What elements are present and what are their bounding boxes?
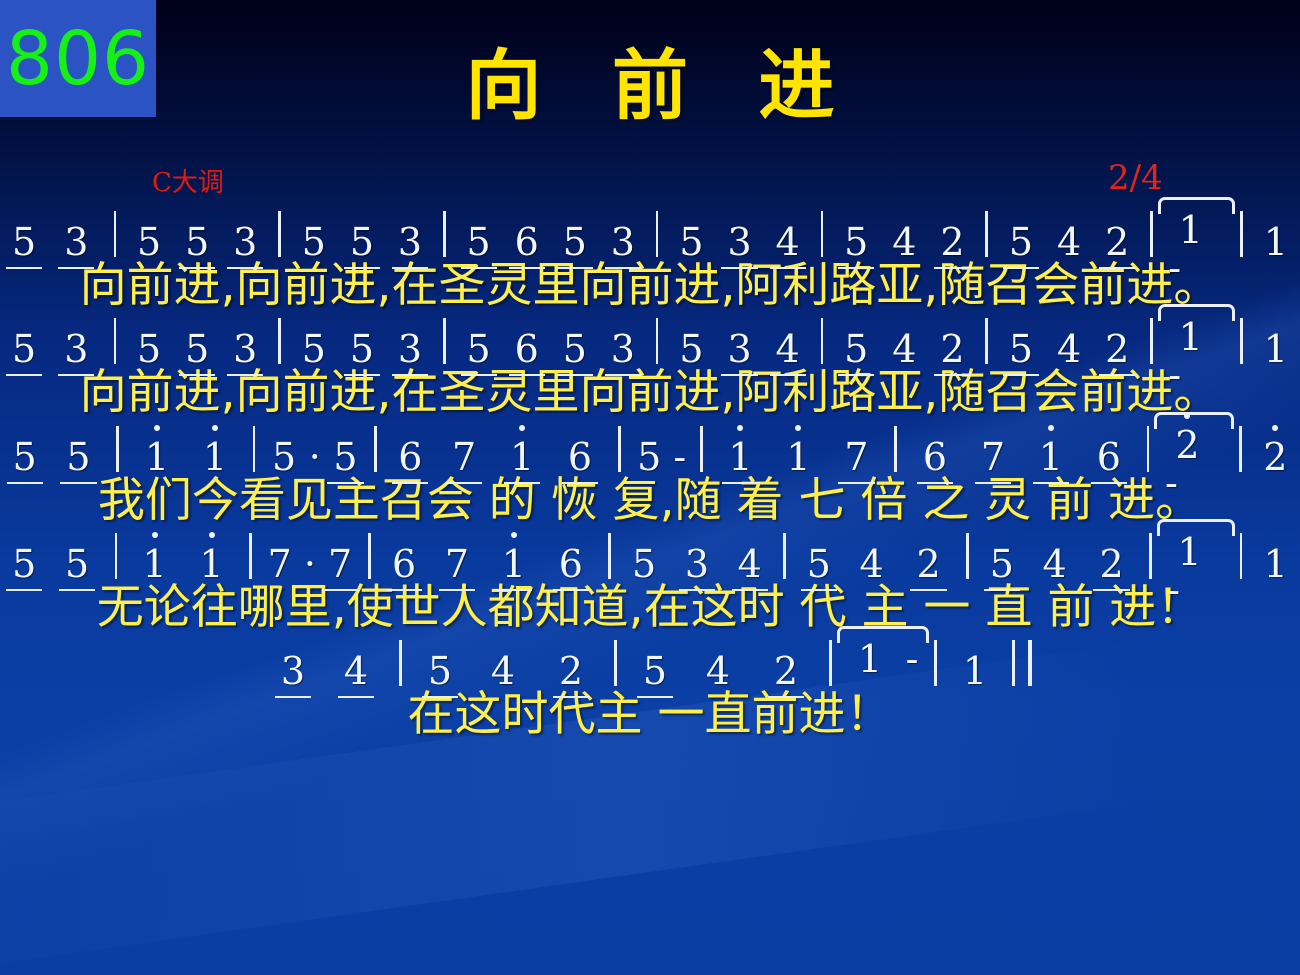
notation-row: 5355355356535345425421-1 [0, 312, 1300, 368]
note: 1 [1162, 211, 1220, 249]
note: 5 [551, 330, 599, 368]
music-system: 345425421-1在这时代主 一直前进！ [0, 634, 1300, 739]
note-glyph: 5 [10, 330, 38, 368]
note: 7 [428, 545, 485, 583]
bar-line [985, 211, 987, 257]
bar-line [783, 533, 786, 579]
bar-line [399, 640, 402, 686]
note-glyph: 1 [1262, 223, 1290, 261]
note: 6 [386, 438, 435, 476]
note: 5 [832, 330, 880, 368]
note-glyph: 1 [143, 438, 171, 476]
bar-line [1240, 211, 1242, 257]
note-glyph: 1 [1177, 318, 1205, 356]
bar-line [278, 318, 280, 364]
note: 1 [485, 545, 542, 583]
note: 5 [173, 223, 221, 261]
note-glyph: 4 [704, 652, 732, 690]
note-glyph: 3 [725, 223, 753, 261]
note: 1 [126, 545, 183, 583]
note: 3 [668, 545, 725, 583]
note: 5 [326, 438, 365, 476]
ending-bracket: 1- [1161, 533, 1231, 579]
note: - [1162, 356, 1188, 394]
note-glyph: 1 [197, 545, 225, 583]
note: 1 [1252, 223, 1300, 261]
note: 2 [928, 330, 976, 368]
note-glyph: 1 [1262, 545, 1290, 583]
note: 5 [173, 330, 221, 368]
ending-bracket: 1- [1162, 211, 1232, 257]
note-glyph: 6 [390, 545, 418, 583]
bar-line [278, 211, 280, 257]
notation-row: 5355355356535345425421-1 [0, 205, 1300, 261]
note-glyph: 4 [1055, 330, 1083, 368]
note-glyph: 3 [725, 330, 753, 368]
note-glyph: 1 [961, 652, 989, 690]
note-glyph: 1 [1262, 330, 1290, 368]
key-signature: C大调 [152, 162, 224, 199]
bar-line [114, 211, 116, 257]
note-glyph: - [1166, 356, 1183, 394]
note: 4 [725, 545, 774, 583]
note: 4 [764, 223, 812, 261]
note-glyph: 2 [914, 545, 942, 583]
note: · [299, 545, 321, 583]
bar-line [1150, 318, 1152, 364]
ending-bracket: 1- [841, 640, 925, 686]
note: 3 [48, 223, 104, 261]
music-system: 55115·567165-11767162-2我们今看见主召会 的 恢 复,随 … [0, 420, 1300, 525]
note-glyph: 6 [566, 438, 594, 476]
time-signature: 2/4 [1108, 158, 1163, 198]
note-glyph: 5 [135, 330, 163, 368]
note-glyph: 1 [1177, 211, 1205, 249]
ending-bracket: 2- [1158, 426, 1230, 472]
note-glyph: 7 [842, 438, 870, 476]
note-glyph: 4 [774, 223, 802, 261]
note: 2 [752, 652, 820, 690]
bar-line [614, 640, 617, 686]
note: - [1158, 464, 1184, 502]
note: 4 [1026, 545, 1083, 583]
note: - [899, 640, 925, 678]
note-glyph: 5 [270, 438, 298, 476]
note: - [1162, 249, 1188, 287]
hymn-slide: 806 向 前 进 C大调 2/4 5355355356535345425421… [0, 0, 1300, 975]
note: 5 [997, 223, 1045, 261]
note-glyph: 1 [500, 545, 528, 583]
bar-line [1150, 211, 1152, 257]
note: 5 [125, 223, 173, 261]
note-glyph: 5 [677, 223, 705, 261]
note: 1 [128, 438, 186, 476]
note-glyph: 2 [1103, 330, 1131, 368]
note-glyph: 7 [266, 545, 294, 583]
bar-line [700, 426, 703, 472]
note: 5 [551, 223, 599, 261]
note-glyph: 6 [513, 330, 541, 368]
bar-line [821, 211, 823, 257]
note-glyph: 5 [10, 545, 38, 583]
note: 7 [435, 438, 493, 476]
note: 1 [946, 652, 1004, 690]
note: 2 [1083, 545, 1140, 583]
ending-bracket: 1- [1162, 318, 1232, 364]
note: 5 [49, 438, 107, 476]
note: · [304, 438, 326, 476]
note-glyph: · [302, 545, 318, 583]
note: 2 [1093, 223, 1141, 261]
note: 1 [183, 545, 240, 583]
note-glyph: 4 [489, 652, 517, 690]
note-glyph: - [1166, 249, 1183, 287]
note: 2 [537, 652, 605, 690]
note: 3 [221, 223, 269, 261]
note-glyph: - [1163, 464, 1180, 502]
note: 5 [125, 330, 173, 368]
note-glyph: 5 [331, 438, 359, 476]
note-glyph: 2 [1261, 438, 1289, 476]
note-glyph: 4 [890, 223, 918, 261]
note: 1 [712, 438, 770, 476]
note: 2 [1093, 330, 1141, 368]
note-glyph: - [904, 640, 921, 678]
note: 3 [264, 652, 322, 690]
note-glyph: 7 [443, 545, 471, 583]
bar-line [1149, 533, 1152, 579]
note: 3 [48, 330, 104, 368]
note: 1 [493, 438, 551, 476]
note-glyph: · [307, 438, 323, 476]
bar-line [821, 318, 823, 364]
note: 1 [1022, 438, 1080, 476]
note: 5 [667, 330, 715, 368]
note: 7 [964, 438, 1022, 476]
bar-line [656, 318, 658, 364]
note: 1 [1251, 545, 1300, 583]
bar-line [1240, 318, 1242, 364]
note-glyph: 3 [231, 223, 259, 261]
notation-row: 345425421-1 [0, 634, 1300, 690]
note: 2 [1158, 426, 1216, 464]
note: 6 [503, 223, 551, 261]
note-glyph: 5 [135, 223, 163, 261]
note: 4 [880, 223, 928, 261]
note-glyph: 2 [557, 652, 585, 690]
note-glyph: 2 [1103, 223, 1131, 261]
bar-line [656, 211, 658, 257]
note: 7 [261, 545, 300, 583]
note-glyph: 5 [63, 545, 91, 583]
note: 1 [1162, 318, 1220, 356]
note-glyph: 1 [508, 438, 536, 476]
note-glyph: 5 [64, 438, 92, 476]
bar-line [1147, 426, 1150, 472]
note: 5 [264, 438, 303, 476]
note-glyph: 5 [465, 330, 493, 368]
note: 6 [551, 438, 609, 476]
note-glyph: 5 [348, 330, 376, 368]
note-glyph: 5 [842, 330, 870, 368]
note: 5 [626, 652, 684, 690]
note-glyph: 5 [1007, 330, 1035, 368]
note-glyph: 6 [557, 545, 585, 583]
note: 4 [469, 652, 537, 690]
note-glyph: 1 [726, 438, 754, 476]
note-glyph: 1 [784, 438, 812, 476]
note-glyph: 5 [183, 330, 211, 368]
note-glyph: 3 [62, 223, 90, 261]
final-double-bar-line [1012, 640, 1032, 686]
note-glyph: 5 [1007, 223, 1035, 261]
note-glyph: 3 [396, 330, 424, 368]
note-glyph: 5 [988, 545, 1016, 583]
bar-line [443, 318, 445, 364]
note-glyph: 2 [1173, 426, 1201, 464]
note-glyph: 5 [183, 223, 211, 261]
note-glyph: 1 [140, 545, 168, 583]
note-glyph: 5 [465, 223, 493, 261]
note: 1 [1161, 533, 1219, 571]
note: 5 [667, 223, 715, 261]
note: 1 [1252, 330, 1300, 368]
note-glyph: 2 [938, 223, 966, 261]
note: 5 [0, 438, 49, 476]
bar-line [934, 640, 937, 686]
note-glyph: 5 [300, 330, 328, 368]
note-glyph: 4 [890, 330, 918, 368]
note-glyph: 5 [561, 223, 589, 261]
note: 5 [411, 652, 469, 690]
note-glyph: 5 [426, 652, 454, 690]
note-glyph: 2 [938, 330, 966, 368]
note: 3 [716, 223, 764, 261]
note-glyph: 5 [561, 330, 589, 368]
note: 5 [978, 545, 1027, 583]
note-glyph: 7 [979, 438, 1007, 476]
note: 3 [599, 330, 647, 368]
note: 4 [764, 330, 812, 368]
note-glyph: 4 [857, 545, 885, 583]
note: 5 [49, 545, 106, 583]
note: 6 [906, 438, 964, 476]
music-system: 5355355356535345425421-1向前进,向前进,在圣灵里向前进,… [0, 312, 1300, 417]
note: 7 [321, 545, 360, 583]
note-glyph: 5 [805, 545, 833, 583]
note-glyph: 7 [326, 545, 354, 583]
note: 4 [880, 330, 928, 368]
note-glyph: 6 [921, 438, 949, 476]
note-glyph: 5 [630, 545, 658, 583]
note: 5 [0, 223, 48, 261]
bar-line [374, 426, 377, 472]
note-glyph: 5 [11, 438, 39, 476]
note: 5 [455, 223, 503, 261]
note-glyph: 5 [348, 223, 376, 261]
music-system: 55117·767165345425421-1无论往哪里,使世人都知道,在这时 … [0, 527, 1300, 632]
note: 2 [928, 223, 976, 261]
note: 5 [0, 330, 48, 368]
note-glyph: 3 [683, 545, 711, 583]
music-system: 5355355356535345425421-1向前进,向前进,在圣灵里向前进,… [0, 205, 1300, 310]
note: 5 [620, 545, 669, 583]
note: 5 [455, 330, 503, 368]
note: 3 [386, 223, 434, 261]
bar-line [985, 318, 987, 364]
note-glyph: 3 [231, 330, 259, 368]
bar-line [443, 211, 445, 257]
note: - [669, 438, 691, 476]
music-body: 5355355356535345425421-1向前进,向前进,在圣灵里向前进,… [0, 205, 1300, 742]
note-glyph: 3 [396, 223, 424, 261]
bar-line [115, 533, 118, 579]
bar-line [114, 318, 116, 364]
note: 4 [322, 652, 390, 690]
bar-line [894, 426, 897, 472]
bar-line [368, 533, 371, 579]
note-glyph: 1 [1037, 438, 1065, 476]
note: 5 [338, 223, 386, 261]
bar-line [618, 426, 621, 472]
bar-line [966, 533, 969, 579]
note: 2 [1251, 438, 1300, 476]
note: 3 [221, 330, 269, 368]
note-glyph: 2 [1097, 545, 1125, 583]
bar-line [249, 533, 252, 579]
note: 6 [380, 545, 429, 583]
bar-line [829, 640, 832, 686]
note: 6 [503, 330, 551, 368]
note-glyph: 1 [856, 640, 884, 678]
note-glyph: 4 [774, 330, 802, 368]
note-glyph: 6 [513, 223, 541, 261]
note: 4 [1045, 223, 1093, 261]
note-glyph: 7 [450, 438, 478, 476]
notation-row: 55117·767165345425421-1 [0, 527, 1300, 583]
note-glyph: 5 [842, 223, 870, 261]
note: 7 [827, 438, 885, 476]
note-glyph: 3 [279, 652, 307, 690]
note: 1 [769, 438, 827, 476]
note: 3 [386, 330, 434, 368]
note: 4 [1045, 330, 1093, 368]
note-glyph: 2 [772, 652, 800, 690]
note: - [1161, 571, 1187, 609]
note-glyph: - [671, 438, 688, 476]
note-glyph: 6 [396, 438, 424, 476]
notation-row: 55115·567165-11767162-2 [0, 420, 1300, 476]
note: 3 [599, 223, 647, 261]
note: 5 [630, 438, 669, 476]
note: 5 [795, 545, 844, 583]
hymn-title: 向 前 进 [0, 48, 1300, 124]
bar-line [253, 426, 256, 472]
note: 2 [900, 545, 957, 583]
note: 5 [290, 223, 338, 261]
note: 6 [542, 545, 599, 583]
note-glyph: 4 [1055, 223, 1083, 261]
bar-line [608, 533, 611, 579]
note-glyph: 5 [677, 330, 705, 368]
note-glyph: 4 [1041, 545, 1069, 583]
note-glyph: 6 [1095, 438, 1123, 476]
note: 6 [1080, 438, 1138, 476]
note-glyph: 5 [635, 438, 663, 476]
note: 5 [0, 545, 49, 583]
note: 4 [843, 545, 900, 583]
note-glyph: 5 [641, 652, 669, 690]
note-glyph: 4 [342, 652, 370, 690]
bar-line [1239, 426, 1242, 472]
note-glyph: 5 [300, 223, 328, 261]
note-glyph: 3 [62, 330, 90, 368]
note: 4 [684, 652, 752, 690]
bar-line [1240, 533, 1243, 579]
note: 3 [716, 330, 764, 368]
note: 1 [186, 438, 244, 476]
note: 5 [997, 330, 1045, 368]
bar-line [116, 426, 119, 472]
note-glyph: 5 [10, 223, 38, 261]
note: 5 [832, 223, 880, 261]
note-glyph: 1 [201, 438, 229, 476]
note: 5 [290, 330, 338, 368]
note-glyph: - [1165, 571, 1182, 609]
note: 1 [841, 640, 899, 678]
note-glyph: 1 [1175, 533, 1203, 571]
note-glyph: 3 [609, 330, 637, 368]
note-glyph: 3 [609, 223, 637, 261]
note: 5 [338, 330, 386, 368]
note-glyph: 4 [736, 545, 764, 583]
